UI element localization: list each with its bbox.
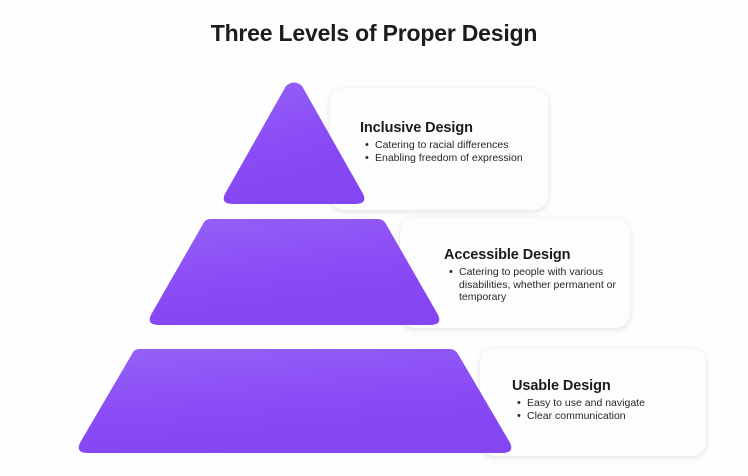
level-bullet: Catering to people with various disabili… — [459, 266, 628, 304]
pyramid-tier-bottom-shape — [79, 349, 512, 453]
pyramid-tier-middle-shape — [150, 219, 440, 325]
level-title-inclusive-design: Inclusive Design — [360, 120, 560, 136]
level-block-inclusive-design: Inclusive Design Catering to racial diff… — [360, 120, 560, 165]
level-bullets-usable-design: Easy to use and navigate Clear communica… — [512, 397, 706, 423]
page-title: Three Levels of Proper Design — [0, 20, 748, 47]
level-block-usable-design: Usable Design Easy to use and navigate C… — [512, 378, 706, 423]
pyramid-infographic: Three Levels of Proper Design Inclusive … — [0, 0, 748, 476]
level-bullet: Enabling freedom of expression — [375, 152, 560, 165]
level-bullet: Clear communication — [527, 410, 706, 423]
level-bullets-inclusive-design: Catering to racial differences Enabling … — [360, 139, 560, 165]
level-block-accessible-design: Accessible Design Catering to people wit… — [444, 247, 628, 304]
level-bullets-accessible-design: Catering to people with various disabili… — [444, 266, 628, 304]
level-title-usable-design: Usable Design — [512, 378, 706, 394]
level-title-accessible-design: Accessible Design — [444, 247, 628, 263]
level-bullet: Easy to use and navigate — [527, 397, 706, 410]
level-bullet: Catering to racial differences — [375, 139, 560, 152]
